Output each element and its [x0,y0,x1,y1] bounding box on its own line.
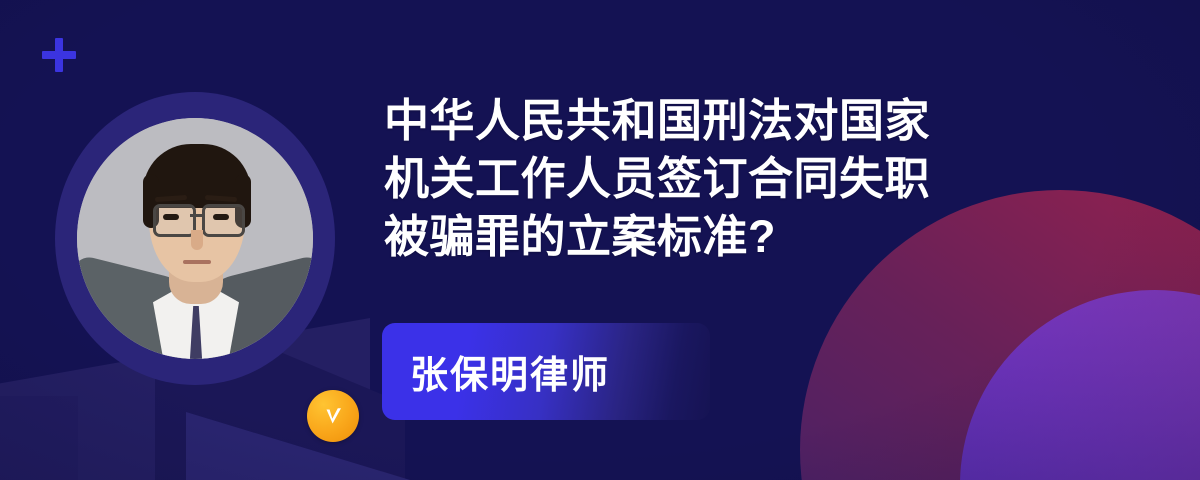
avatar [55,92,335,385]
background-circle-purple [960,290,1200,480]
background-polygon-d [0,396,78,480]
verified-check-icon [307,390,359,442]
plus-icon [42,38,76,72]
promo-banner: 中华人民共和国刑法对国家 机关工作人员签订合同失职 被骗罪的立案标准? 张保明律… [0,0,1200,480]
page-title: 中华人民共和国刑法对国家 机关工作人员签订合同失职 被骗罪的立案标准? [384,92,1024,266]
author-button[interactable]: 张保明律师 [382,323,710,420]
avatar-photo [77,118,313,359]
